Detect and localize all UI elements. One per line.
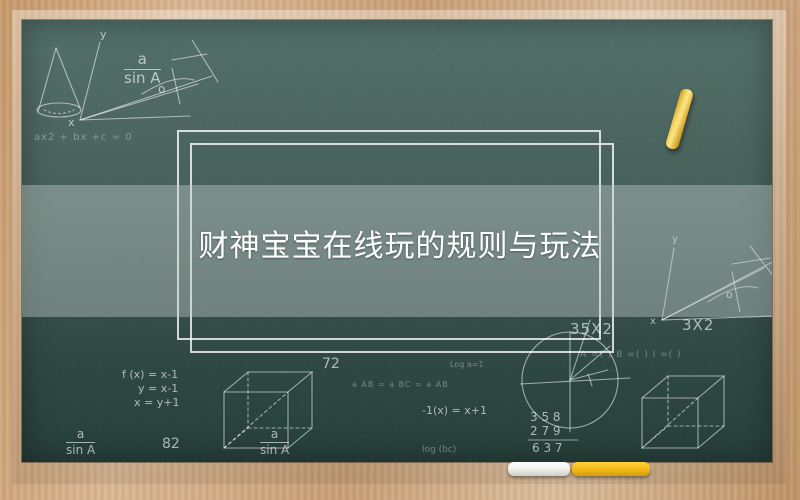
power-seven-exponent: 2 [331, 356, 340, 372]
chalk-sum-line-1: 3 5 8 [530, 410, 561, 424]
fraction-denominator: sin A [66, 443, 95, 457]
yellow-chalk-tray-icon [572, 462, 650, 476]
chalk-inverse-function: -1(x) = x+1 [422, 404, 487, 417]
chalk-log-note: Log a=1 [450, 360, 484, 369]
fraction-numerator: a [77, 427, 84, 441]
chalk-sum-result: 6 3 7 [532, 441, 563, 455]
fraction-numerator: a [271, 427, 278, 441]
cone-drawing [37, 48, 81, 117]
page-title: 财神宝宝在线玩的规则与玩法 [0, 228, 800, 266]
chalk-function-line-1: f (x) = x-1 [122, 368, 178, 381]
chalk-function-line-2: y = x-1 [138, 382, 178, 395]
chalk-sum-line-2: 2 7 9 [530, 424, 561, 438]
chalk-side-note-proportions: a AB = a BC = a AB [352, 380, 449, 389]
chalk-fraction-a-sina-topleft: a sin A [124, 52, 161, 87]
chalk-fraction-a-sina-bottommid: a sin A [260, 428, 289, 456]
chalk-quadratic-equation: ax2 + bx +c = 0 [34, 132, 133, 143]
chalk-function-line-3: x = y+1 [134, 396, 179, 409]
chalkboard-banner: a sin A y x o ax2 + bx +c = 0 y x o f (x… [0, 0, 800, 500]
chalk-axis-label-y-topleft: y [100, 28, 107, 41]
chalk-label-3x2: 3X2 [682, 316, 714, 334]
fraction-numerator: a [138, 50, 147, 68]
chalk-power-eight: 82 [162, 436, 180, 452]
chalk-power-seven: 72 [322, 356, 340, 372]
power-seven-base: 7 [322, 356, 331, 372]
chalk-axis-label-x-right: x [650, 316, 656, 327]
cube-drawing-right [642, 376, 724, 448]
chalk-fraction-a-sina-bottomleft: a sin A [66, 428, 95, 456]
fraction-denominator: sin A [260, 443, 289, 457]
chalk-angle-label-topleft: o [158, 82, 165, 96]
chalk-axis-label-x-topleft: x [68, 116, 75, 129]
power-eight-exponent: 2 [171, 436, 180, 452]
power-eight-base: 8 [162, 436, 171, 452]
chalk-angle-label-right: o [726, 288, 733, 301]
fraction-denominator: sin A [124, 69, 161, 87]
chalk-log-bc: log (bc) [422, 445, 456, 455]
white-chalk-icon [508, 462, 570, 476]
